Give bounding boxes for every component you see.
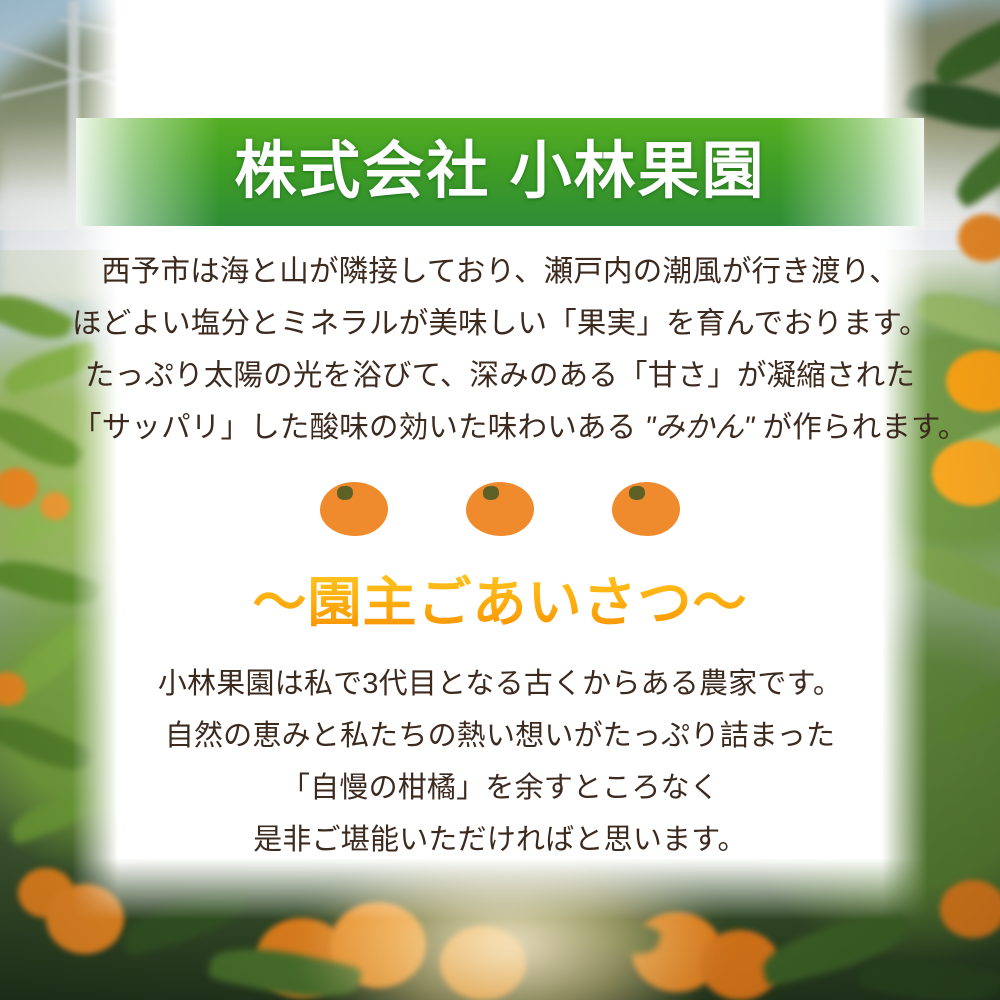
mandarin-body <box>466 482 534 536</box>
intro-line-1: 西予市は海と山が隣接しており、瀬戸内の潮風が行き渡り、 <box>72 246 928 298</box>
intro-line-4-suffix: が作られます。 <box>754 411 967 444</box>
company-name-banner: 株式会社 小林果園 <box>76 118 924 226</box>
greeting-line-3: 「自慢の柑橘」を余すところなく <box>72 762 928 814</box>
poster-canvas: 株式会社 小林果園 西予市は海と山が隣接しており、瀬戸内の潮風が行き渡り、 ほど… <box>0 0 1000 1000</box>
intro-line-3: たっぷり太陽の光を浴びて、深みのある「甘さ」が凝縮された <box>72 350 928 402</box>
intro-paragraph: 西予市は海と山が隣接しており、瀬戸内の潮風が行き渡り、 ほどよい塩分とミネラルが… <box>72 246 928 454</box>
intro-line-2: ほどよい塩分とミネラルが美味しい「果実」を育んでおります。 <box>72 298 928 350</box>
content-layer: 株式会社 小林果園 西予市は海と山が隣接しており、瀬戸内の潮風が行き渡り、 ほど… <box>0 0 1000 1000</box>
greeting-paragraph: 小林果園は私で3代目となる古くからある農家です。 自然の恵みと私たちの熱い想いが… <box>72 658 928 866</box>
greeting-line-1: 小林果園は私で3代目となる古くからある農家です。 <box>72 658 928 710</box>
intro-line-4-prefix: 「サッパリ」した酸味の効いた味わいある <box>72 411 645 444</box>
greeting-line-2: 自然の恵みと私たちの熱い想いがたっぷり詰まった <box>72 710 928 762</box>
mikan-quoted-word: "みかん" <box>645 411 754 444</box>
intro-line-4: 「サッパリ」した酸味の効いた味わいある "みかん" が作られます。 <box>72 402 928 454</box>
mandarin-icon-1 <box>320 482 388 536</box>
company-name-title: 株式会社 小林果園 <box>234 141 765 203</box>
mandarin-icon-3 <box>612 482 680 536</box>
mandarin-icon-row <box>72 478 928 540</box>
mandarin-body <box>320 482 388 536</box>
greeting-section-heading: 〜園主ごあいさつ〜 <box>72 572 928 634</box>
mandarin-icon-2 <box>466 482 534 536</box>
greeting-line-4: 是非ご堪能いただければと思います。 <box>72 814 928 866</box>
mandarin-body <box>612 482 680 536</box>
